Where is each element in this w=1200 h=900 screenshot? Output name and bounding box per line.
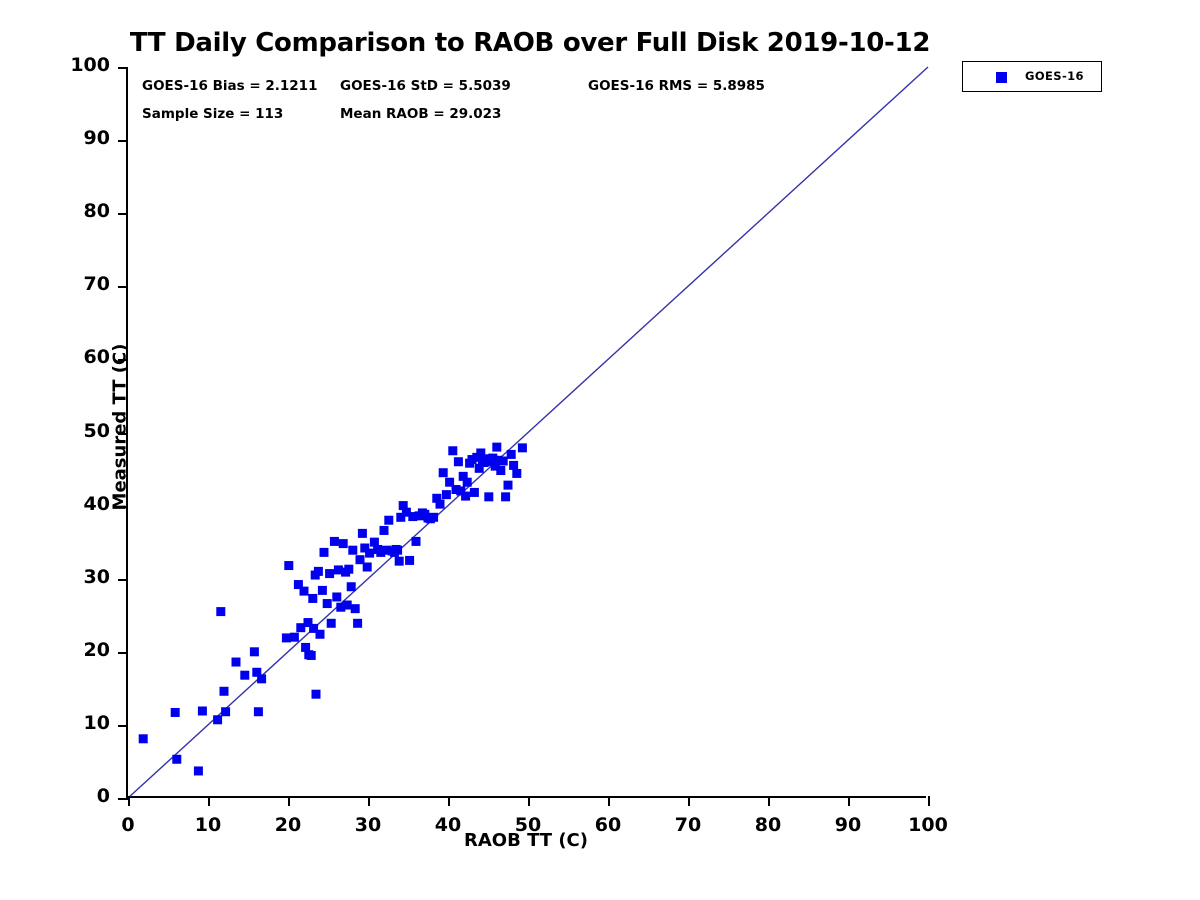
plot-canvas [128, 67, 928, 798]
scatter-point [314, 567, 323, 576]
scatter-point [198, 707, 207, 716]
scatter-point [448, 446, 457, 455]
scatter-point [512, 469, 521, 478]
scatter-point [509, 461, 518, 470]
scatter-point [405, 556, 414, 565]
y-tick-mark [118, 652, 128, 654]
y-tick-label: 40 [50, 493, 110, 515]
scatter-point [172, 755, 181, 764]
scatter-point [300, 587, 309, 596]
scatter-point [363, 563, 372, 572]
y-tick-mark [118, 506, 128, 508]
scatter-point [384, 516, 393, 525]
scatter-point [240, 671, 249, 680]
y-tick-label: 50 [50, 420, 110, 442]
scatter-point [339, 539, 348, 548]
y-tick-label: 100 [50, 54, 110, 76]
scatter-point [318, 586, 327, 595]
x-tick-mark [688, 796, 690, 806]
scatter-series-goes16 [139, 443, 527, 776]
annotation-std: GOES-16 StD = 5.5039 [340, 78, 511, 94]
scatter-point [470, 488, 479, 497]
y-tick-mark [118, 798, 128, 800]
scatter-point [327, 619, 336, 628]
y-tick-label: 30 [50, 566, 110, 588]
scatter-point [496, 466, 505, 475]
scatter-point [454, 457, 463, 466]
chart-figure: TT Daily Comparison to RAOB over Full Di… [0, 0, 1200, 900]
legend: GOES-16 [962, 61, 1102, 92]
scatter-point [358, 529, 367, 538]
scatter-point [351, 604, 360, 613]
scatter-point [284, 561, 293, 570]
legend-label-goes16: GOES-16 [1025, 69, 1084, 83]
y-tick-mark [118, 67, 128, 69]
scatter-point [442, 490, 451, 499]
scatter-point [220, 687, 229, 696]
x-tick-mark [288, 796, 290, 806]
scatter-point [308, 594, 317, 603]
y-tick-label: 0 [50, 785, 110, 807]
scatter-point [290, 633, 299, 642]
scatter-point [347, 582, 356, 591]
scatter-point [250, 647, 259, 656]
annotation-mean-raob: Mean RAOB = 29.023 [340, 106, 501, 122]
x-tick-mark [448, 796, 450, 806]
x-tick-mark [208, 796, 210, 806]
scatter-point [518, 443, 527, 452]
x-tick-mark [608, 796, 610, 806]
scatter-point [323, 599, 332, 608]
scatter-point [254, 707, 263, 716]
x-tick-mark [848, 796, 850, 806]
scatter-point [213, 715, 222, 724]
chart-title: TT Daily Comparison to RAOB over Full Di… [0, 28, 1060, 58]
scatter-point [501, 492, 510, 501]
scatter-point [380, 526, 389, 535]
scatter-point [216, 607, 225, 616]
scatter-point [343, 601, 352, 610]
scatter-point [344, 565, 353, 574]
y-tick-label: 10 [50, 712, 110, 734]
scatter-point [395, 557, 404, 566]
y-tick-label: 90 [50, 127, 110, 149]
x-tick-mark [528, 796, 530, 806]
x-tick-mark [928, 796, 930, 806]
scatter-point [221, 707, 230, 716]
scatter-point [461, 492, 470, 501]
scatter-point [325, 569, 334, 578]
scatter-point [439, 468, 448, 477]
legend-swatch-goes16-icon [996, 72, 1007, 83]
scatter-point [507, 450, 516, 459]
scatter-point [393, 546, 402, 555]
y-tick-label: 20 [50, 639, 110, 661]
scatter-point [429, 513, 438, 522]
x-tick-mark [128, 796, 130, 806]
scatter-point [332, 592, 341, 601]
y-tick-label: 80 [50, 200, 110, 222]
y-tick-mark [118, 359, 128, 361]
scatter-point [330, 537, 339, 546]
y-tick-label: 70 [50, 273, 110, 295]
scatter-point [504, 481, 513, 490]
one-to-one-reference-line [128, 67, 928, 798]
scatter-point [499, 457, 508, 466]
scatter-point [412, 537, 421, 546]
annotation-rms: GOES-16 RMS = 5.8985 [588, 78, 765, 94]
scatter-point [348, 546, 357, 555]
y-tick-mark [118, 213, 128, 215]
scatter-point [320, 548, 329, 557]
scatter-point [316, 630, 325, 639]
y-tick-mark [118, 725, 128, 727]
y-tick-mark [118, 433, 128, 435]
scatter-point [307, 651, 316, 660]
scatter-point [484, 492, 493, 501]
x-tick-mark [368, 796, 370, 806]
scatter-point [492, 443, 501, 452]
scatter-point [194, 766, 203, 775]
scatter-point [232, 658, 241, 667]
scatter-point [171, 708, 180, 717]
annotation-bias: GOES-16 Bias = 2.1211 [142, 78, 317, 94]
x-axis-label: RAOB TT (C) [126, 830, 926, 851]
y-tick-label: 60 [50, 346, 110, 368]
y-tick-mark [118, 140, 128, 142]
plot-area: Measured TT (C) 0102030405060708090100 0… [126, 67, 926, 798]
y-tick-mark [118, 579, 128, 581]
scatter-point [312, 690, 321, 699]
x-tick-mark [768, 796, 770, 806]
scatter-point [353, 619, 362, 628]
y-axis-label: Measured TT (C) [110, 344, 131, 511]
y-tick-mark [118, 286, 128, 288]
scatter-point [282, 633, 291, 642]
scatter-point [463, 478, 472, 487]
scatter-point [139, 734, 148, 743]
scatter-point [257, 674, 266, 683]
annotation-sample-size: Sample Size = 113 [142, 106, 283, 122]
scatter-point [365, 549, 374, 558]
scatter-point [436, 500, 445, 509]
